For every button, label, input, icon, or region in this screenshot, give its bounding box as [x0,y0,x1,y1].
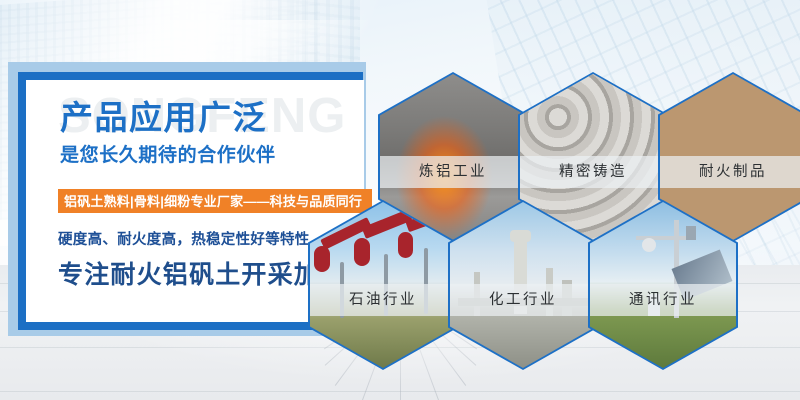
hexagon-label-text: 精密铸造 [559,165,627,180]
hexagon-label: 石油行业 [310,284,456,316]
hexagon-label-text: 石油行业 [349,293,417,308]
page-title: 产品应用广泛 [60,101,267,134]
feature-description: 硬度高、耐火度高，热稳定性好等特性 [58,233,310,248]
hexagon-label: 耐火制品 [660,156,800,188]
product-application-banner: SONGFENG 产品应用广泛 是您长久期待的合作伙伴 铝矾土熟料|骨料|细粉专… [0,0,800,400]
hexagon-label: 炼铝工业 [380,156,526,188]
focus-statement: 专注耐火铝矾土开采加工 [58,263,346,288]
page-subtitle: 是您长久期待的合作伙伴 [60,146,276,165]
hexagon-label-text: 化工行业 [489,293,557,308]
tagline-banner: 铝矾土熟料|骨料|细粉专业厂家——科技与品质同行 [58,189,372,213]
hexagon-label-text: 通讯行业 [629,293,697,308]
hexagon-label: 化工行业 [450,284,596,316]
hexagon-label: 精密铸造 [520,156,666,188]
tagline-banner-text: 铝矾土熟料|骨料|细粉专业厂家——科技与品质同行 [64,195,362,208]
hexagon-label-text: 炼铝工业 [419,165,487,180]
hexagon-label: 通讯行业 [590,284,736,316]
hexagon-label-text: 耐火制品 [699,165,767,180]
